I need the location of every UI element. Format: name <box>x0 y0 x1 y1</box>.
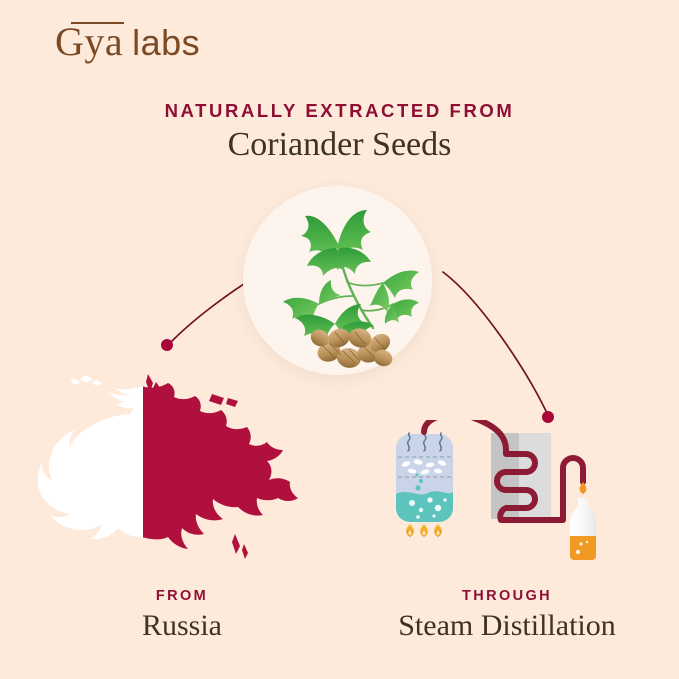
coriander-seeds <box>308 326 395 370</box>
steam-distillation-svg <box>388 420 638 580</box>
russia-map <box>30 368 330 568</box>
method-kicker: THROUGH <box>352 588 662 604</box>
brand-logo-labs: labs <box>132 22 200 63</box>
method-caption: THROUGH Steam Distillation <box>352 588 662 642</box>
brand-logo-gya: Gya <box>55 19 125 64</box>
page-kicker: NATURALLY EXTRACTED FROM <box>0 100 679 122</box>
page-title: Coriander Seeds <box>0 126 679 164</box>
origin-kicker: FROM <box>22 588 342 604</box>
steam-distillation-illustration <box>388 420 638 580</box>
connector-curve-right <box>443 272 546 411</box>
brand-logo[interactable]: Gyalabs <box>55 22 200 62</box>
infographic-canvas: Gyalabs NATURALLY EXTRACTED FROM Coriand… <box>0 0 679 679</box>
hero-circle <box>243 186 432 375</box>
connector-dot-left <box>161 339 173 351</box>
coriander-illustration <box>243 186 432 375</box>
vessel-liquid <box>396 491 453 522</box>
method-title: Steam Distillation <box>352 610 662 642</box>
origin-title: Russia <box>22 610 342 642</box>
macron-icon <box>71 22 124 24</box>
russia-map-svg <box>30 368 330 568</box>
origin-caption: FROM Russia <box>22 588 342 642</box>
bottle-liquid <box>570 536 596 560</box>
